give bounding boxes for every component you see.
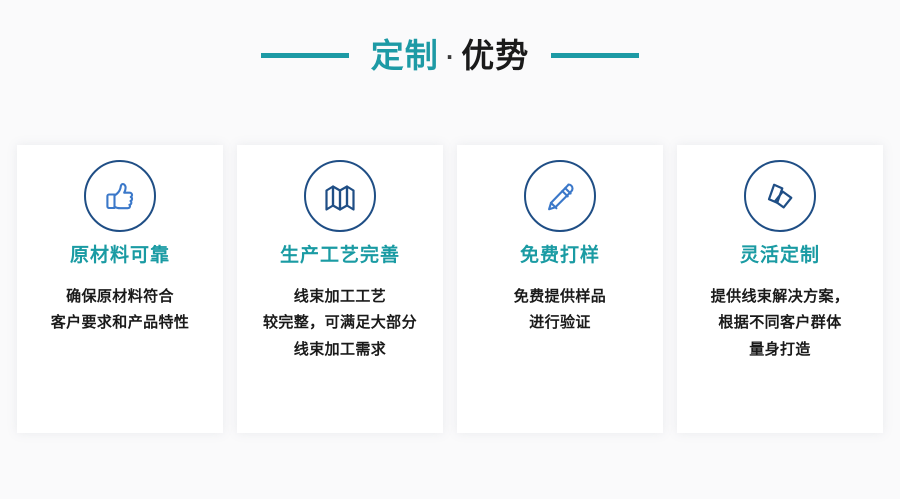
feature-card[interactable]: 免费打样 免费提供样品 进行验证 [457, 145, 663, 433]
card-title: 原材料可靠 [70, 246, 170, 265]
feature-card[interactable]: 原材料可靠 确保原材料符合 客户要求和产品特性 [17, 145, 223, 433]
feature-card[interactable]: 灵活定制 提供线束解决方案， 根据不同客户群体 量身打造 [677, 145, 883, 433]
page-title: 定制 · 优势 [371, 39, 530, 72]
card-title: 免费打样 [520, 246, 600, 265]
feature-card-list: 原材料可靠 确保原材料符合 客户要求和产品特性 生产工艺完善 线束加工工艺 较完… [17, 145, 883, 433]
folded-map-icon [304, 160, 376, 232]
thumbs-up-icon [84, 160, 156, 232]
page-title-separator: · [441, 47, 460, 67]
card-description: 免费提供样品 进行验证 [465, 283, 655, 336]
section-heading: 定制 · 优势 [0, 0, 900, 110]
card-title: 灵活定制 [740, 246, 820, 265]
heading-rule-left [261, 53, 349, 58]
card-description: 确保原材料符合 客户要求和产品特性 [25, 283, 215, 336]
heading-rule-right [551, 53, 639, 58]
pencil-icon [524, 160, 596, 232]
card-title: 生产工艺完善 [280, 246, 400, 265]
card-description: 线束加工工艺 较完整，可满足大部分 线束加工需求 [245, 283, 435, 362]
stacked-cards-icon [744, 160, 816, 232]
page-title-accent: 定制 [371, 39, 439, 72]
card-description: 提供线束解决方案， 根据不同客户群体 量身打造 [685, 283, 875, 362]
feature-card[interactable]: 生产工艺完善 线束加工工艺 较完整，可满足大部分 线束加工需求 [237, 145, 443, 433]
page-title-dark: 优势 [461, 39, 529, 72]
